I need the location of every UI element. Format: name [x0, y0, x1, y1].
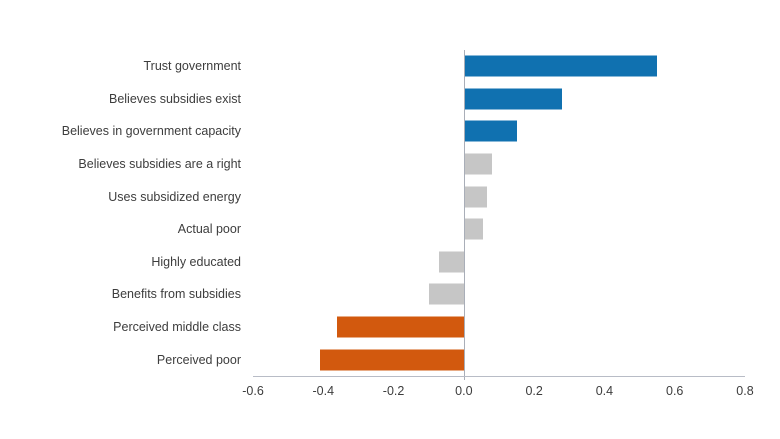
- x-tick-label: -0.4: [313, 384, 335, 398]
- bar: [464, 219, 483, 240]
- x-tick-label: 0.4: [596, 384, 613, 398]
- bar: [320, 349, 464, 370]
- bar-row: Believes subsidies exist: [253, 83, 745, 116]
- bar: [464, 56, 657, 77]
- x-tick-label: -0.2: [383, 384, 405, 398]
- category-label: Trust government: [0, 59, 241, 73]
- category-label: Benefits from subsidies: [0, 287, 241, 301]
- zero-axis-line: [464, 50, 465, 380]
- bar-row: Perceived poor: [253, 343, 745, 376]
- x-tick-label: 0.0: [455, 384, 472, 398]
- bar-row: Benefits from subsidies: [253, 278, 745, 311]
- bar-row: Believes in government capacity: [253, 115, 745, 148]
- bar-row: Actual poor: [253, 213, 745, 246]
- bar-row: Believes subsidies are a right: [253, 148, 745, 181]
- x-tick-label: 0.8: [736, 384, 753, 398]
- chart-figure: Trust governmentBelieves subsidies exist…: [0, 0, 780, 439]
- category-label: Uses subsidized energy: [0, 190, 241, 204]
- category-label: Highly educated: [0, 255, 241, 269]
- category-label: Believes subsidies exist: [0, 92, 241, 106]
- bar: [464, 88, 562, 109]
- bar-row: Perceived middle class: [253, 311, 745, 344]
- category-label: Actual poor: [0, 222, 241, 236]
- bar-row: Trust government: [253, 50, 745, 83]
- category-label: Perceived poor: [0, 353, 241, 367]
- x-tick-label: 0.2: [525, 384, 542, 398]
- x-tick-label: -0.6: [242, 384, 264, 398]
- bar: [464, 154, 492, 175]
- category-label: Believes subsidies are a right: [0, 157, 241, 171]
- bar-row: Highly educated: [253, 246, 745, 279]
- bar: [337, 317, 464, 338]
- bar: [464, 121, 517, 142]
- x-tick-label: 0.6: [666, 384, 683, 398]
- category-label: Perceived middle class: [0, 320, 241, 334]
- category-label: Believes in government capacity: [0, 124, 241, 138]
- plot-area: Trust governmentBelieves subsidies exist…: [253, 50, 745, 376]
- bar: [464, 186, 487, 207]
- bar: [439, 251, 464, 272]
- bar-row: Uses subsidized energy: [253, 180, 745, 213]
- x-axis-line: [253, 376, 745, 377]
- bar: [429, 284, 464, 305]
